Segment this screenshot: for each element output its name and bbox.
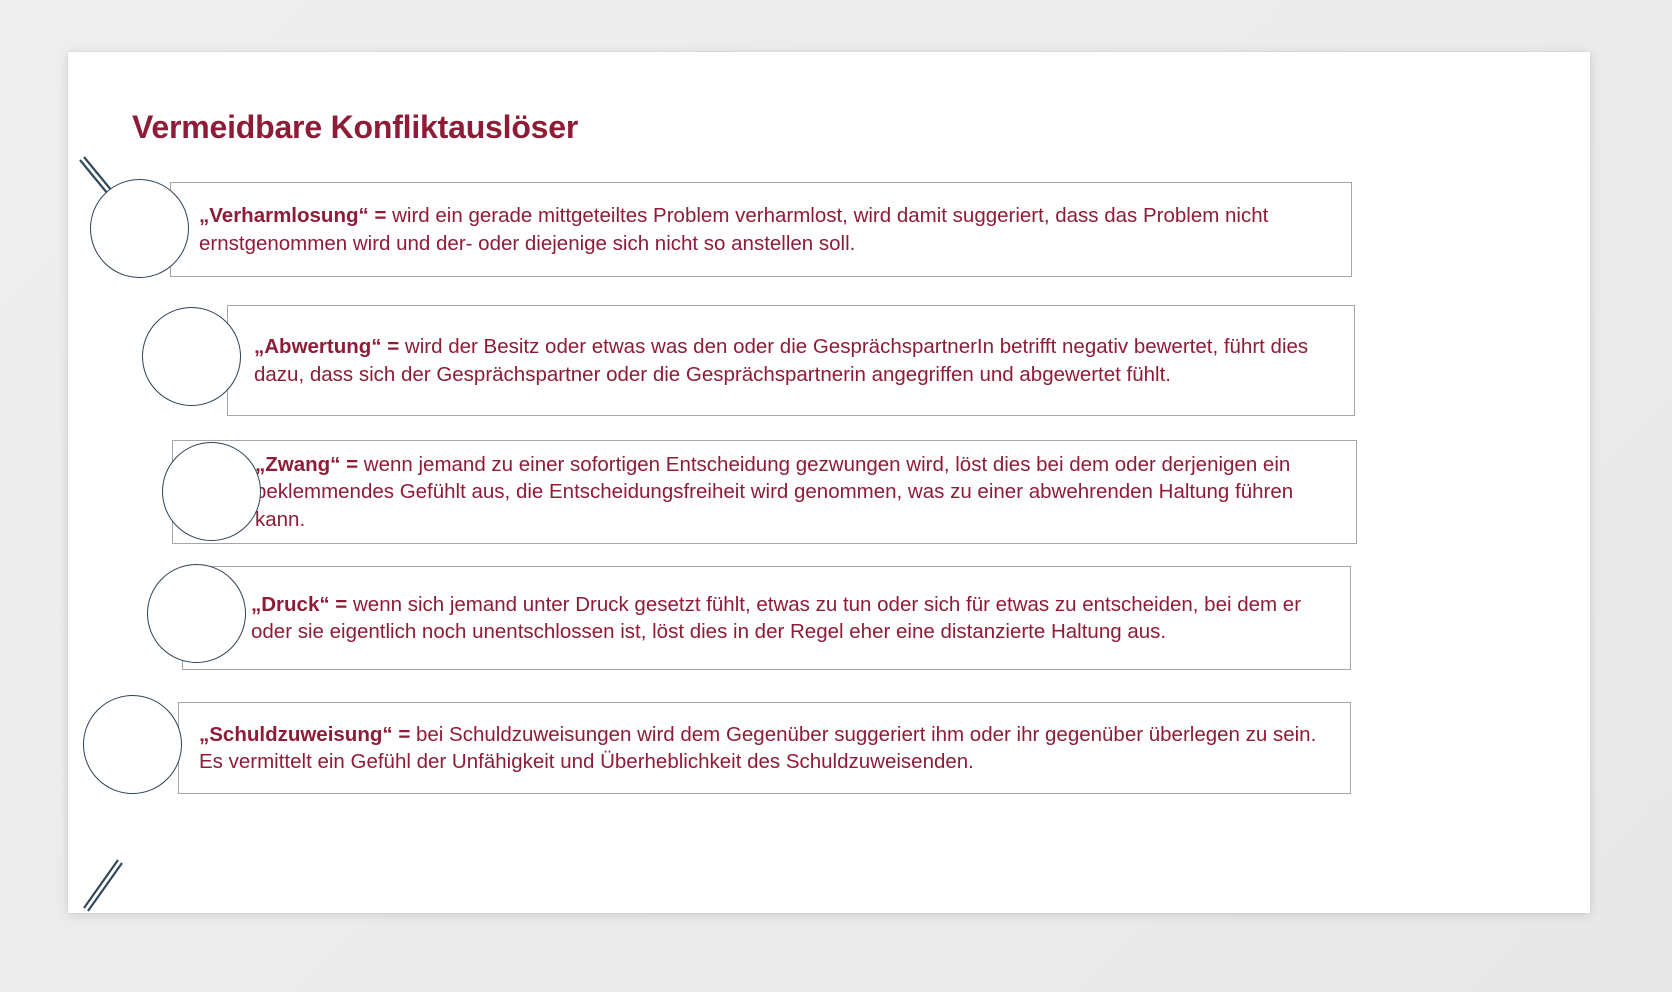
list-item-term: „Druck“ <box>251 593 330 616</box>
slide-stage: Vermeidbare Konfliktauslöser <box>0 0 1672 992</box>
circle-node-2 <box>142 307 241 406</box>
list-item[interactable]: „Zwang“ = wenn jemand zu einer sofortige… <box>172 440 1357 544</box>
slide-canvas: Vermeidbare Konfliktauslöser <box>68 52 1590 913</box>
list-item[interactable]: „Druck“ = wenn sich jemand unter Druck g… <box>182 566 1351 670</box>
circle-node-5 <box>83 695 182 794</box>
list-item-separator: = <box>382 335 405 358</box>
list-item-term: „Zwang“ <box>255 453 340 476</box>
list-item-term: „Schuldzuweisung“ <box>199 723 393 746</box>
list-item-body: wird der Besitz oder etwas was den oder … <box>254 335 1308 385</box>
list-item-separator: = <box>393 723 416 746</box>
list-item-separator: = <box>330 593 353 616</box>
list-item-body: wenn sich jemand unter Druck gesetzt füh… <box>251 593 1301 643</box>
conflict-trigger-diagram: „Verharmlosung“ = wird ein gerade mittge… <box>68 52 1590 913</box>
list-item[interactable]: „Verharmlosung“ = wird ein gerade mittge… <box>170 182 1352 277</box>
list-item-text: „Verharmlosung“ = wird ein gerade mittge… <box>171 202 1351 256</box>
list-item-text: „Zwang“ = wenn jemand zu einer sofortige… <box>173 451 1356 532</box>
list-item-term: „Abwertung“ <box>254 335 382 358</box>
list-item-separator: = <box>369 204 392 227</box>
list-item-text: „Abwertung“ = wird der Besitz oder etwas… <box>228 333 1354 387</box>
list-item[interactable]: „Abwertung“ = wird der Besitz oder etwas… <box>227 305 1355 416</box>
list-item-text: „Schuldzuweisung“ = bei Schuldzuweisunge… <box>179 721 1350 775</box>
list-item-body: wenn jemand zu einer sofortigen Entschei… <box>255 453 1293 530</box>
circle-node-4 <box>147 564 246 663</box>
list-item[interactable]: „Schuldzuweisung“ = bei Schuldzuweisunge… <box>178 702 1351 794</box>
list-item-text: „Druck“ = wenn sich jemand unter Druck g… <box>183 591 1350 645</box>
list-item-term: „Verharmlosung“ <box>199 204 369 227</box>
circle-node-3 <box>162 442 261 541</box>
list-item-separator: = <box>340 453 363 476</box>
circle-node-1 <box>90 179 189 278</box>
